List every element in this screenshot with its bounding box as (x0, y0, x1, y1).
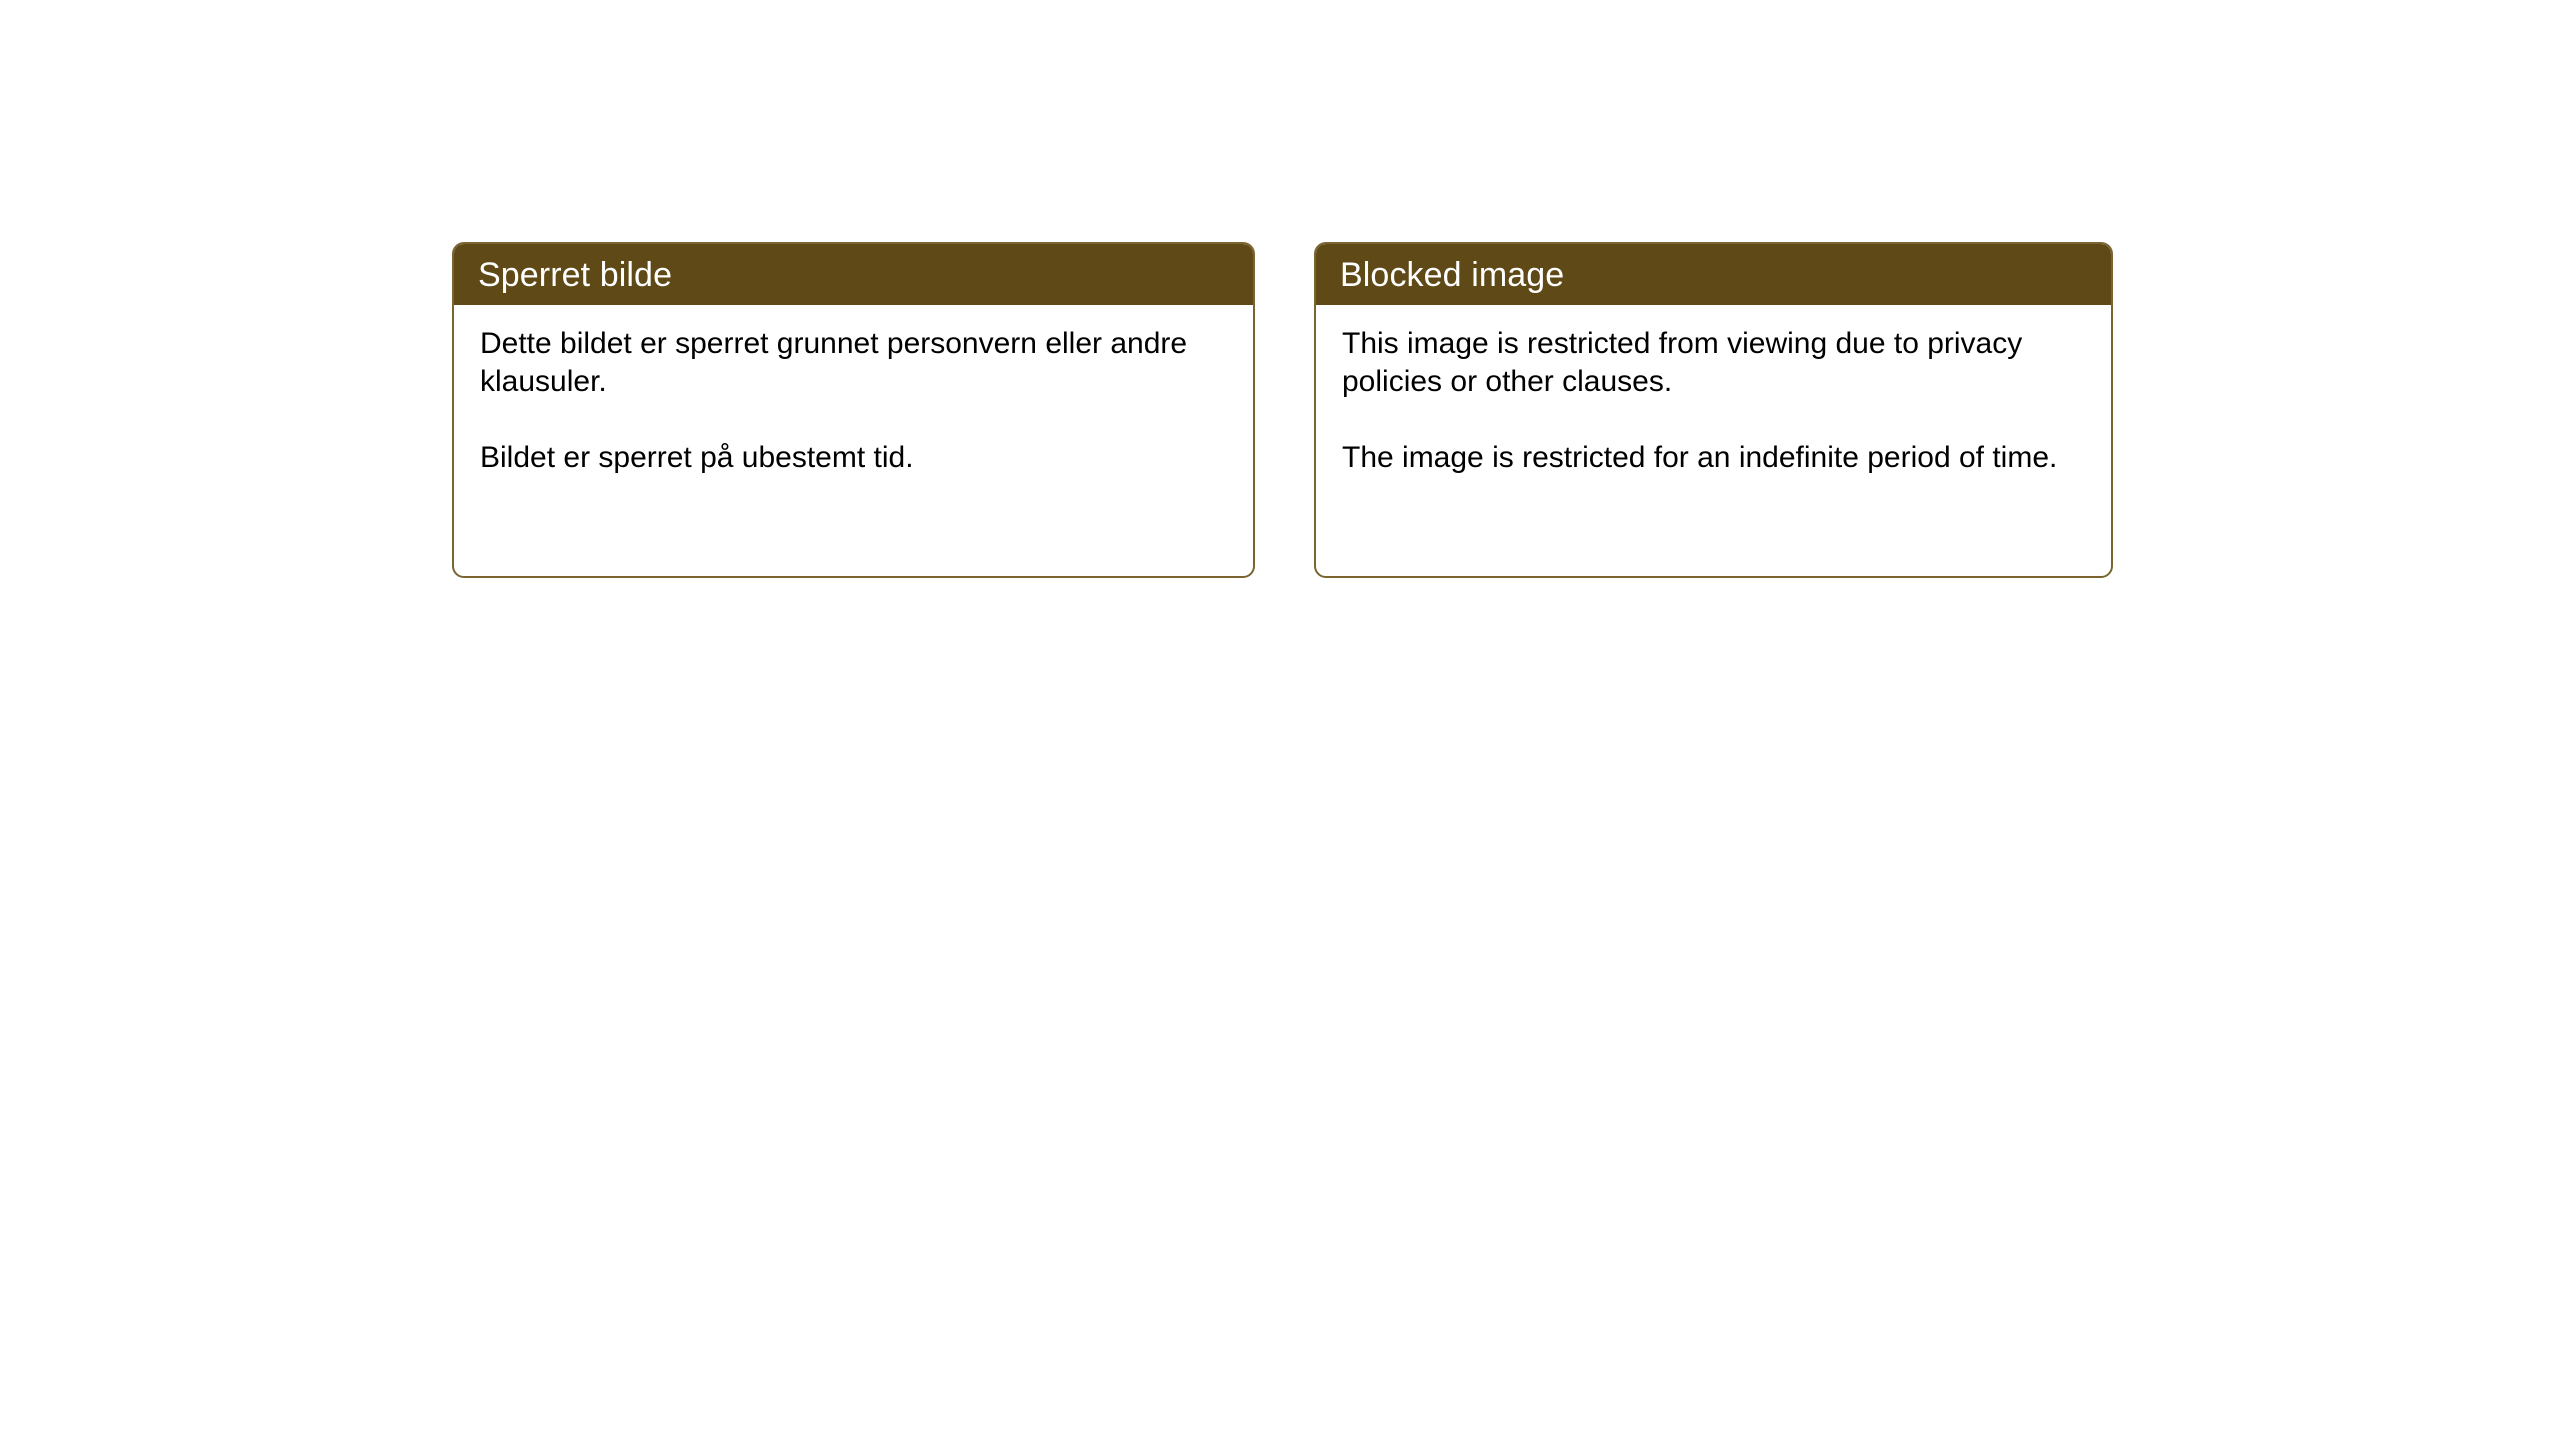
notice-paragraph-reason-no: Dette bildet er sperret grunnet personve… (480, 325, 1231, 402)
notice-paragraph-duration-no: Bildet er sperret på ubestemt tid. (480, 439, 1231, 477)
notice-header-no: Sperret bilde (454, 244, 1253, 305)
notice-title-en: Blocked image (1340, 258, 1564, 292)
notice-header-en: Blocked image (1316, 244, 2111, 305)
page-canvas: Sperret bilde Dette bildet er sperret gr… (0, 0, 2560, 1440)
notice-body-en: This image is restricted from viewing du… (1316, 305, 2111, 477)
blocked-image-notice-en: Blocked image This image is restricted f… (1314, 242, 2113, 578)
notice-paragraph-duration-en: The image is restricted for an indefinit… (1342, 439, 2089, 477)
notice-paragraph-reason-en: This image is restricted from viewing du… (1342, 325, 2089, 402)
notice-body-no: Dette bildet er sperret grunnet personve… (454, 305, 1253, 477)
blocked-image-notice-no: Sperret bilde Dette bildet er sperret gr… (452, 242, 1255, 578)
notice-title-no: Sperret bilde (478, 258, 672, 292)
